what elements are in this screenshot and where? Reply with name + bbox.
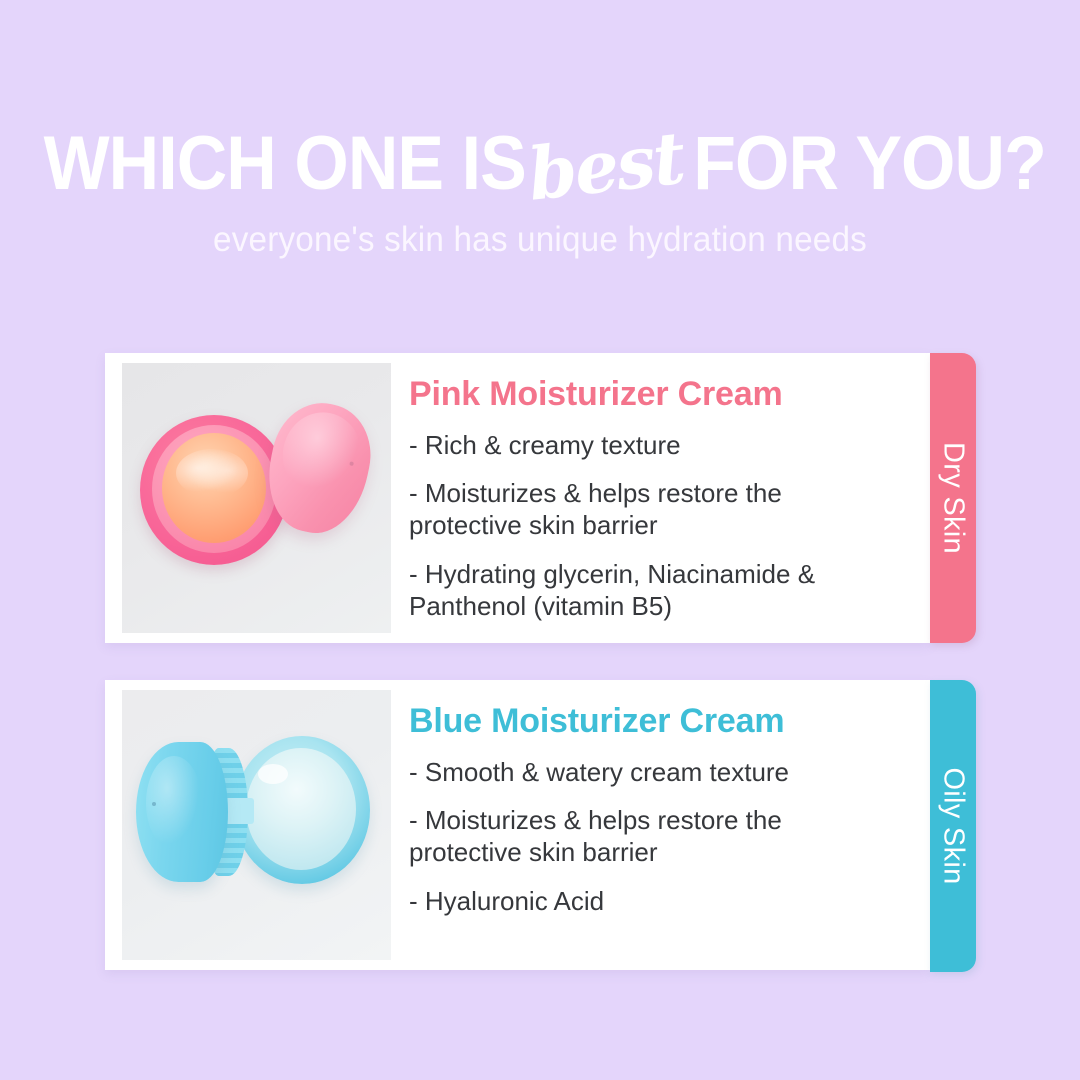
card-inner: Blue Moisturizer Cream - Smooth & watery… [105, 680, 930, 970]
feature-list-blue: - Smooth & watery cream texture - Moistu… [409, 757, 930, 918]
list-item: - Smooth & watery cream texture [409, 757, 879, 789]
product-title-pink: Pink Moisturizer Cream [409, 377, 930, 413]
blue-lid-mark [152, 802, 156, 806]
feature-list-pink: - Rich & creamy texture - Moisturizes & … [409, 430, 930, 623]
card-text-pink: Pink Moisturizer Cream - Rich & creamy t… [391, 363, 930, 622]
list-item: - Rich & creamy texture [409, 430, 884, 462]
page-subtitle: everyone's skin has unique hydration nee… [27, 222, 1053, 257]
product-card-pink[interactable]: Pink Moisturizer Cream - Rich & creamy t… [105, 353, 930, 643]
skin-type-tab-oily[interactable]: Oily Skin [930, 680, 976, 972]
headline-prefix: WHICH ONE IS [44, 126, 526, 202]
product-image-pink [122, 363, 391, 633]
product-card-blue[interactable]: Blue Moisturizer Cream - Smooth & watery… [105, 680, 930, 970]
poster-canvas: WHICH ONE ISbestFOR YOU? everyone's skin… [0, 0, 1080, 1080]
card-text-blue: Blue Moisturizer Cream - Smooth & watery… [391, 690, 930, 918]
list-item: - Moisturizes & helps restore the protec… [409, 805, 879, 868]
pink-jar-cream [162, 433, 266, 543]
headline-script-word: best [516, 121, 696, 212]
skin-type-tab-dry-label: Dry Skin [937, 442, 970, 554]
skin-type-tab-oily-label: Oily Skin [937, 767, 970, 884]
blue-jar-lid [136, 742, 228, 882]
list-item: - Hydrating glycerin, Niacinamide & Pant… [409, 559, 884, 622]
list-item: - Hyaluronic Acid [409, 886, 879, 918]
page-title: WHICH ONE ISbestFOR YOU? [44, 126, 1046, 202]
header-block: WHICH ONE ISbestFOR YOU? everyone's skin… [0, 126, 1080, 257]
pink-lid-mark [349, 461, 354, 466]
card-inner: Pink Moisturizer Cream - Rich & creamy t… [105, 353, 930, 643]
skin-type-tab-dry[interactable]: Dry Skin [930, 353, 976, 643]
product-title-blue: Blue Moisturizer Cream [409, 704, 930, 740]
product-image-blue [122, 690, 391, 960]
blue-jar-gel [246, 748, 356, 870]
list-item: - Moisturizes & helps restore the protec… [409, 478, 884, 541]
headline-suffix: FOR YOU? [693, 126, 1046, 202]
